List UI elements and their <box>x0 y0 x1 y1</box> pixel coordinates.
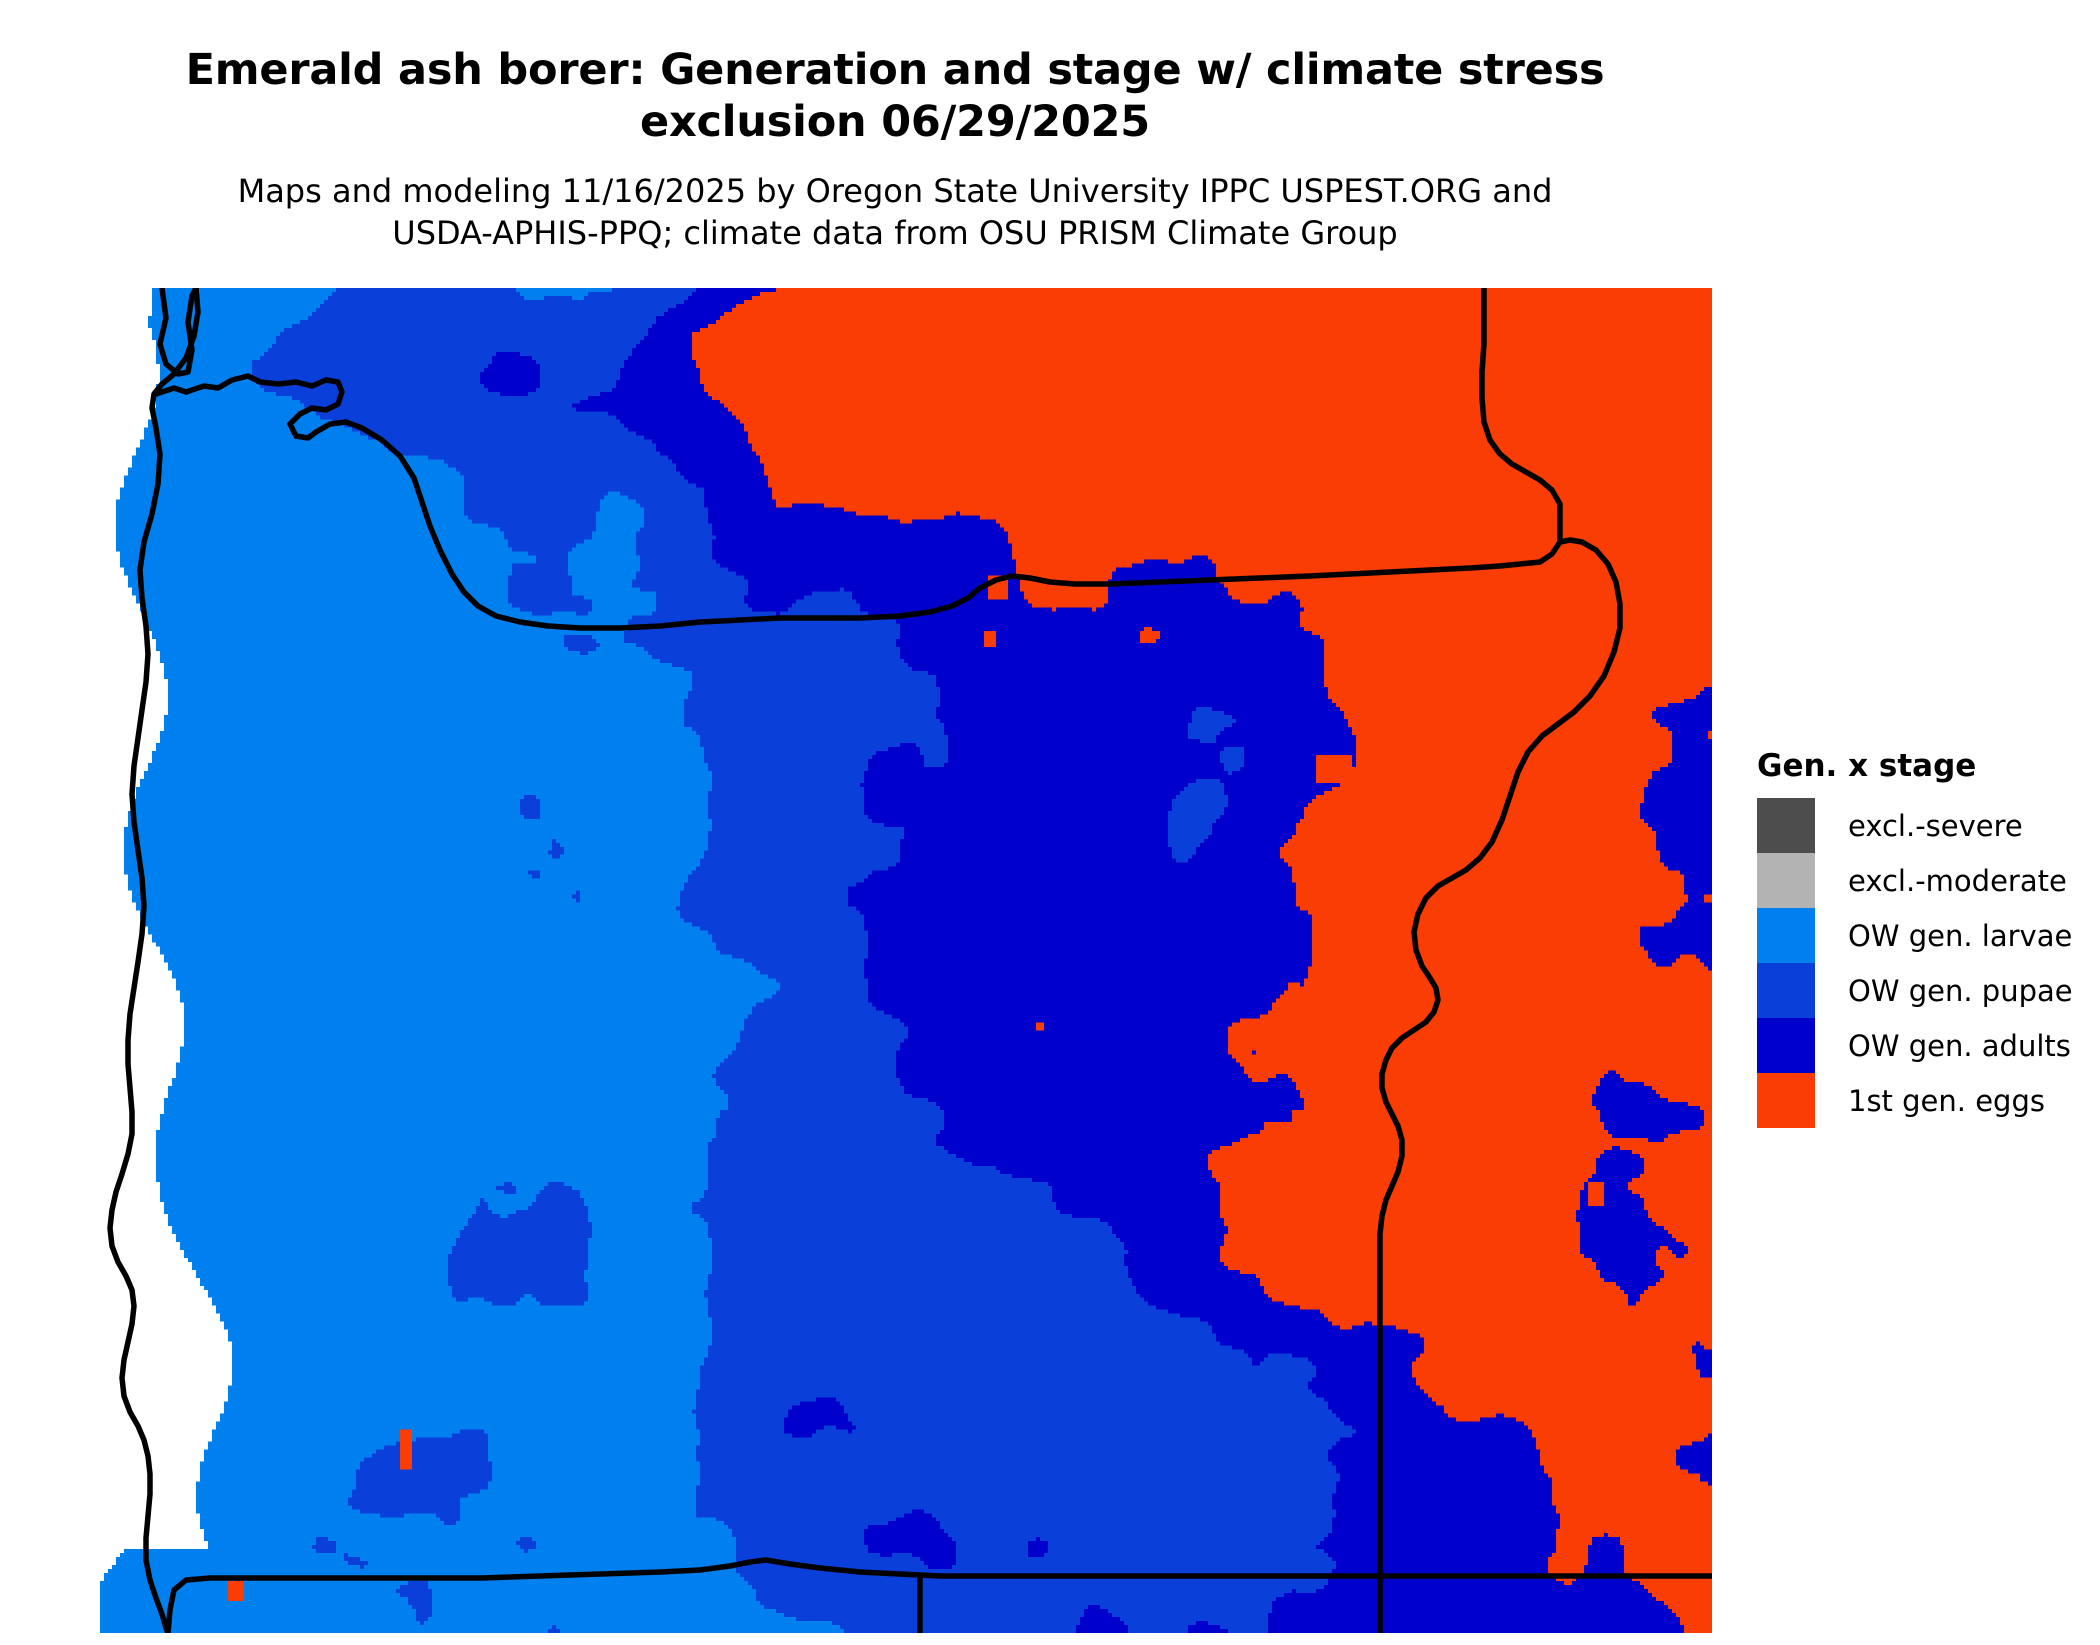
legend-item-label: OW gen. adults <box>1815 1029 2071 1063</box>
legend-item[interactable]: OW gen. pupae <box>1757 963 2087 1018</box>
legend-item-label: OW gen. larvae <box>1815 919 2072 953</box>
legend-item-label: excl.-moderate <box>1815 864 2067 898</box>
legend-swatch <box>1757 1018 1815 1073</box>
legend-item-label: excl.-severe <box>1815 809 2023 843</box>
legend-item[interactable]: OW gen. adults <box>1757 1018 2087 1073</box>
legend-swatch <box>1757 1073 1815 1128</box>
legend-item[interactable]: excl.-severe <box>1757 798 2087 853</box>
legend: Gen. x stage excl.-severeexcl.-moderateO… <box>1757 748 2087 1128</box>
legend-item-label: 1st gen. eggs <box>1815 1084 2045 1118</box>
legend-swatch <box>1757 963 1815 1018</box>
map-panel[interactable] <box>100 288 1712 1633</box>
legend-swatch <box>1757 798 1815 853</box>
legend-item[interactable]: 1st gen. eggs <box>1757 1073 2087 1128</box>
page-subtitle: Maps and modeling 11/16/2025 by Oregon S… <box>185 171 1605 254</box>
legend-item-label: OW gen. pupae <box>1815 974 2073 1008</box>
legend-item[interactable]: excl.-moderate <box>1757 853 2087 908</box>
header: Emerald ash borer: Generation and stage … <box>0 0 1790 254</box>
legend-item[interactable]: OW gen. larvae <box>1757 908 2087 963</box>
legend-swatch <box>1757 853 1815 908</box>
legend-swatch <box>1757 908 1815 963</box>
generation-stage-raster <box>100 288 1712 1633</box>
legend-title: Gen. x stage <box>1757 748 2087 784</box>
page-title: Emerald ash borer: Generation and stage … <box>135 44 1655 149</box>
legend-rows: excl.-severeexcl.-moderateOW gen. larvae… <box>1757 798 2087 1128</box>
